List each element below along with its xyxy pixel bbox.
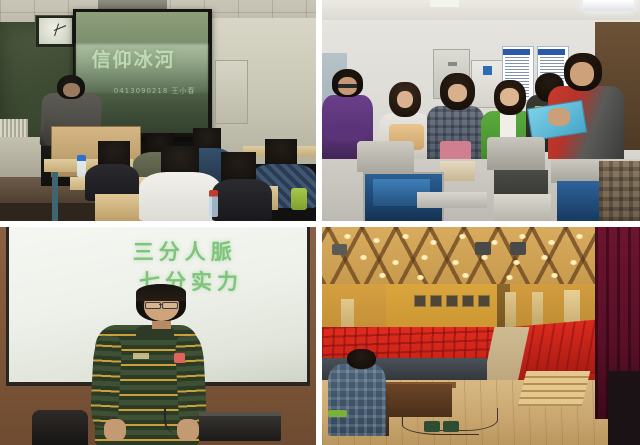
ceiling-downlight (462, 273, 469, 278)
cabinet-label (448, 62, 458, 66)
chair-dark (32, 410, 89, 445)
ceiling-downlight (570, 260, 577, 265)
water-bottle-red (209, 190, 218, 217)
speaker-hand-left (104, 419, 126, 441)
wall-decor-square (446, 295, 458, 308)
slide-line-1: 三分人脈 (133, 236, 259, 262)
wall-poster-2-header (538, 49, 565, 56)
ceiling-downlight (459, 234, 466, 239)
wall-decor-square (414, 295, 426, 308)
chair-front (95, 194, 146, 221)
keyboard (417, 192, 487, 207)
classroom-lecture-photo: 信仰冰河 0413090218 王小春 (0, 0, 316, 221)
eyeglasses-icon (338, 84, 357, 88)
stage-spotlight (510, 242, 526, 255)
student-hand (548, 108, 570, 126)
speaker-hair (136, 284, 187, 301)
floor-equipment-2 (443, 421, 459, 432)
ceiling-downlight (452, 260, 459, 265)
chair-cover-plaid (599, 161, 640, 221)
stage-spotlight (332, 244, 348, 255)
photo-collage: 信仰冰河 0413090218 王小春 (0, 0, 640, 445)
wall-decor-square (462, 295, 474, 308)
student-face-green-jacket (500, 88, 519, 106)
computer-lab-scene (322, 0, 640, 221)
laptop (199, 412, 281, 440)
ceiling-downlight (392, 260, 399, 265)
podium-leg-left (52, 172, 58, 221)
student-arms-crossed (325, 124, 366, 142)
ceiling-downlight (491, 240, 498, 245)
green-cup (291, 188, 307, 210)
foreground-person-head (347, 349, 376, 369)
crt-monitor-right-top (551, 159, 605, 183)
ceiling-light-right (583, 0, 634, 11)
classroom-scene: 信仰冰河 0413090218 王小春 (0, 0, 316, 221)
student-speaker-photo: 三分人脈 七分实力 (0, 227, 316, 445)
equipment-box-beige (440, 161, 475, 181)
ceiling-downlight (373, 238, 380, 243)
wall-decor-square (430, 295, 442, 308)
ceiling-downlight (576, 234, 583, 239)
eyeglasses-bridge-icon (159, 304, 163, 305)
slide-subtitle-text: 0413090218 王小春 (114, 86, 190, 99)
panel-icon (483, 66, 493, 75)
eyeglasses-lens-right-icon (162, 302, 178, 310)
speaker-arm-left (89, 335, 122, 428)
crt-monitor-left-top (357, 141, 414, 172)
laptop-lid-edge (199, 412, 281, 415)
foreground-person-body (328, 364, 385, 436)
stage-dark-area (608, 371, 640, 445)
wall-cabinet (215, 60, 249, 124)
ceiling-downlight (519, 234, 526, 239)
water-bottle-blue (77, 155, 85, 177)
student-face-red-jacket (570, 62, 594, 86)
ceiling-downlight (548, 240, 555, 245)
aisle-steps (518, 371, 590, 406)
computer-lab-photo (322, 0, 640, 221)
floor-equipment-1 (424, 421, 440, 432)
ceiling-downlight (551, 273, 558, 278)
ceiling-downlight (344, 234, 351, 239)
auditorium-scene (322, 227, 640, 445)
ceiling-downlight (379, 273, 386, 278)
slide-title-text: 信仰冰河 (92, 51, 193, 80)
student-face-plaid (448, 84, 467, 102)
auditorium-photo (322, 227, 640, 445)
ceiling-downlight (402, 234, 409, 239)
instructor-face (63, 83, 80, 97)
eyeglasses-lens-left-icon (145, 302, 161, 310)
polo-logo (133, 353, 149, 358)
crt-monitor-center-top (487, 137, 544, 170)
ceiling-downlight (513, 260, 520, 265)
cable (164, 408, 194, 434)
speaker-scene: 三分人脈 七分实力 (0, 227, 316, 445)
stage-spotlight (475, 242, 491, 255)
wall-decor-square (478, 295, 490, 308)
student-body-5 (212, 179, 272, 221)
student-face-longhair (397, 91, 413, 109)
green-object (328, 410, 347, 417)
wall-poster-1-header (503, 49, 530, 56)
name-badge (174, 353, 185, 363)
ceiling-light-center (430, 0, 459, 7)
equipment-box-grey (494, 194, 551, 221)
